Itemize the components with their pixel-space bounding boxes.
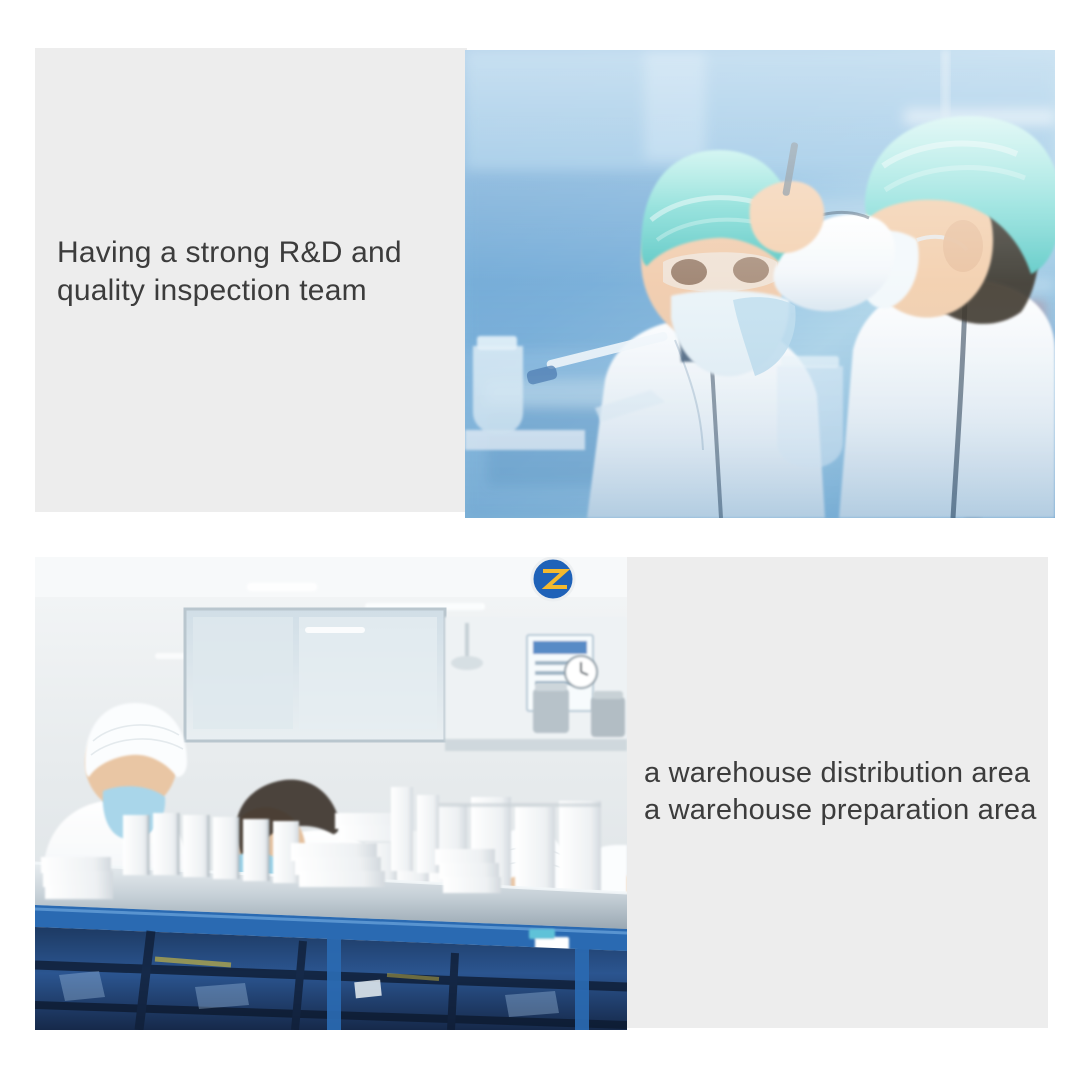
caption-panel-rnd: Having a strong R&D and quality inspecti… (35, 48, 467, 512)
page-root: Having a strong R&D and quality inspecti… (0, 0, 1080, 1080)
caption-panel-warehouse: a warehouse distribution area a warehous… (627, 557, 1048, 1028)
cleanroom-window (185, 609, 445, 741)
caption-line-1: a warehouse distribution area (644, 755, 1048, 792)
blue-round-sign (532, 558, 574, 600)
caption-text-rnd: Having a strong R&D and quality inspecti… (57, 234, 457, 310)
section-warehouse: a warehouse distribution area a warehous… (0, 540, 1080, 1080)
caption-line-1: Having a strong R&D and (57, 234, 457, 272)
caption-line-2: quality inspection team (57, 272, 457, 310)
warehouse-photo-art (35, 557, 627, 1030)
caption-line-2: a warehouse preparation area (644, 792, 1048, 829)
wall-clock (565, 656, 597, 688)
section-rnd-quality: Having a strong R&D and quality inspecti… (0, 0, 1080, 540)
lab-technicians-photo (465, 50, 1055, 518)
lab-photo-art (465, 50, 1055, 518)
warehouse-packing-photo (35, 557, 627, 1030)
caption-text-warehouse: a warehouse distribution area a warehous… (644, 755, 1048, 829)
